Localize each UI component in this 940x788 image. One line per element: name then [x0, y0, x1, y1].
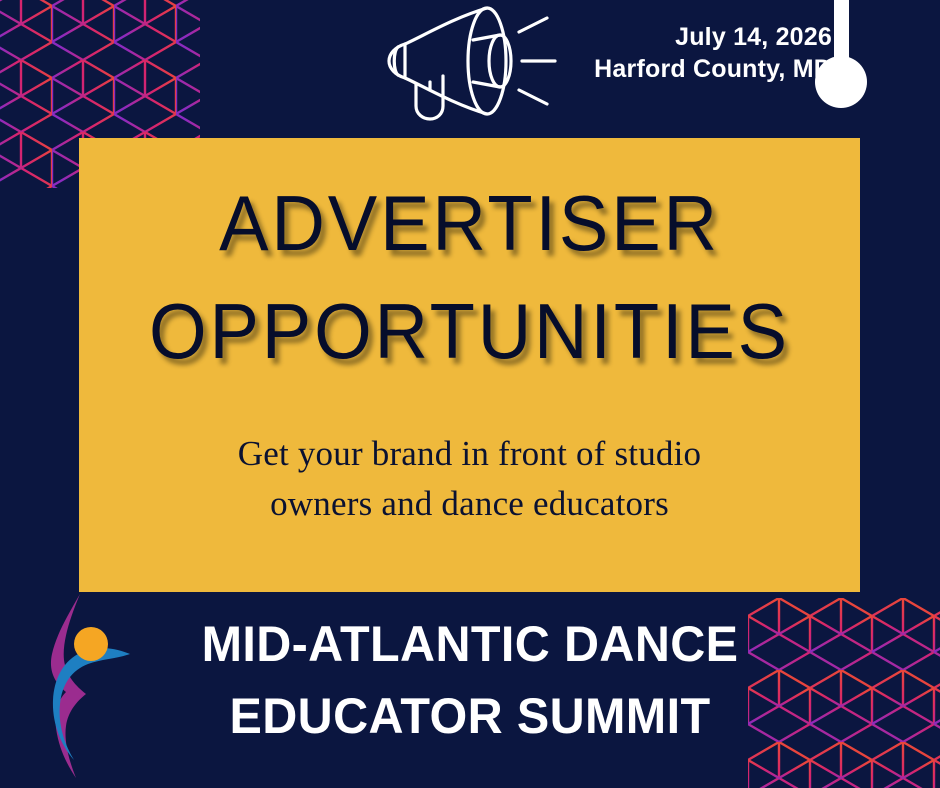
- subheadline-line-1: Get your brand in front of studio: [134, 429, 806, 479]
- poster-header: July 14, 2026 Harford County, MD: [0, 0, 940, 138]
- headline-line-2: OPPORTUNITIES: [99, 278, 841, 386]
- logo-head: [74, 627, 108, 661]
- headline: ADVERTISER OPPORTUNITIES: [99, 170, 841, 385]
- subheadline: Get your brand in front of studio owners…: [134, 429, 806, 528]
- pin-marker-icon: [815, 0, 867, 126]
- headline-line-1: ADVERTISER: [99, 170, 841, 278]
- event-location: Harford County, MD: [540, 54, 832, 86]
- megaphone-icon: [383, 4, 563, 124]
- subheadline-line-2: owners and dance educators: [134, 479, 806, 529]
- offer-card: ADVERTISER OPPORTUNITIES Get your brand …: [79, 138, 860, 592]
- pin-head: [815, 56, 867, 108]
- event-details: July 14, 2026 Harford County, MD: [540, 22, 832, 85]
- dance-summit-logo: [36, 588, 154, 780]
- event-date: July 14, 2026: [540, 22, 832, 54]
- advertiser-opportunities-poster: July 14, 2026 Harford County, MD ADVERTI…: [0, 0, 940, 788]
